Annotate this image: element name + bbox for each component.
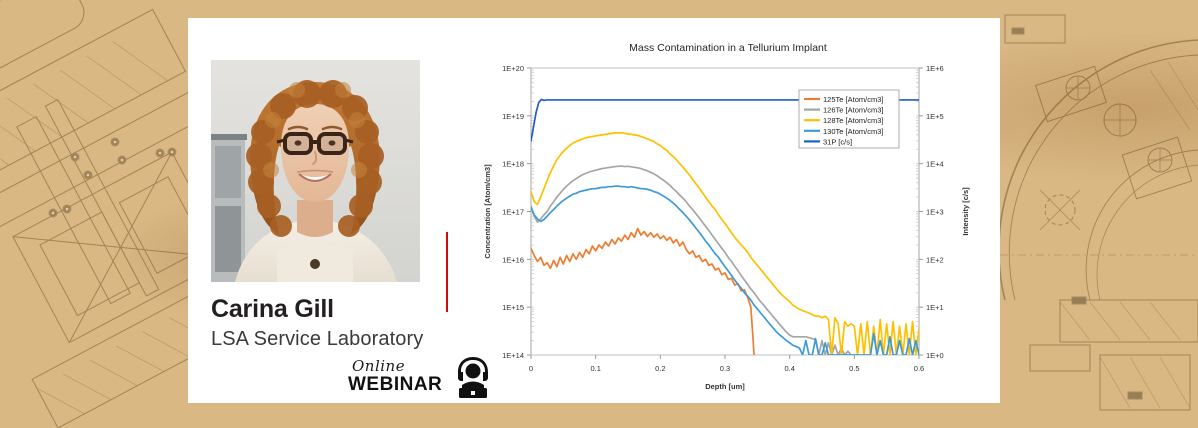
svg-text:Intensity [c/s]: Intensity [c/s] — [961, 187, 970, 236]
presenter-organization: LSA Service Laboratory — [211, 328, 491, 351]
svg-text:1E+20: 1E+20 — [502, 64, 524, 73]
content-card: Carina Gill LSA Service Laboratory Onlin… — [188, 18, 1000, 403]
svg-text:1E+0: 1E+0 — [926, 351, 944, 360]
svg-text:Concentration [Atom/cm3]: Concentration [Atom/cm3] — [483, 164, 492, 259]
svg-text:1E+4: 1E+4 — [926, 160, 944, 169]
svg-text:1E+6: 1E+6 — [926, 64, 944, 73]
svg-text:130Te [Atom/cm3]: 130Te [Atom/cm3] — [823, 127, 883, 136]
slide-canvas: Carina Gill LSA Service Laboratory Onlin… — [0, 0, 1198, 428]
svg-text:0.6: 0.6 — [914, 364, 924, 373]
svg-text:1E+2: 1E+2 — [926, 255, 944, 264]
svg-text:0.2: 0.2 — [655, 364, 665, 373]
svg-text:1E+19: 1E+19 — [502, 112, 524, 121]
svg-text:1E+17: 1E+17 — [502, 208, 524, 217]
online-webinar-logo: Online WEBINAR — [348, 355, 488, 401]
sims-depth-profile-chart: Mass Contamination in a Tellurium Implan… — [473, 30, 983, 395]
svg-text:128Te [Atom/cm3]: 128Te [Atom/cm3] — [823, 116, 883, 125]
logo-webinar-text: WEBINAR — [348, 374, 442, 396]
svg-text:0: 0 — [529, 364, 533, 373]
svg-text:0.5: 0.5 — [849, 364, 859, 373]
svg-text:125Te [Atom/cm3]: 125Te [Atom/cm3] — [823, 95, 883, 104]
logo-online-text: Online — [352, 357, 405, 375]
svg-text:1E+3: 1E+3 — [926, 208, 944, 217]
presenter-photo — [211, 60, 420, 282]
presenter-name: Carina Gill — [211, 295, 471, 324]
svg-text:1E+14: 1E+14 — [502, 351, 524, 360]
svg-text:1E+15: 1E+15 — [502, 303, 524, 312]
accent-divider — [446, 232, 448, 312]
svg-text:0.3: 0.3 — [720, 364, 730, 373]
svg-text:1E+1: 1E+1 — [926, 303, 944, 312]
svg-text:0.1: 0.1 — [590, 364, 600, 373]
svg-text:Depth [um]: Depth [um] — [705, 382, 745, 391]
chart-plot: 1E+141E+151E+161E+171E+181E+191E+201E+01… — [473, 30, 983, 395]
svg-text:0.4: 0.4 — [784, 364, 794, 373]
svg-text:31P [c/s]: 31P [c/s] — [823, 137, 852, 146]
svg-text:1E+16: 1E+16 — [502, 255, 524, 264]
svg-text:1E+5: 1E+5 — [926, 112, 944, 121]
svg-text:126Te [Atom/cm3]: 126Te [Atom/cm3] — [823, 106, 883, 115]
svg-text:1E+18: 1E+18 — [502, 160, 524, 169]
